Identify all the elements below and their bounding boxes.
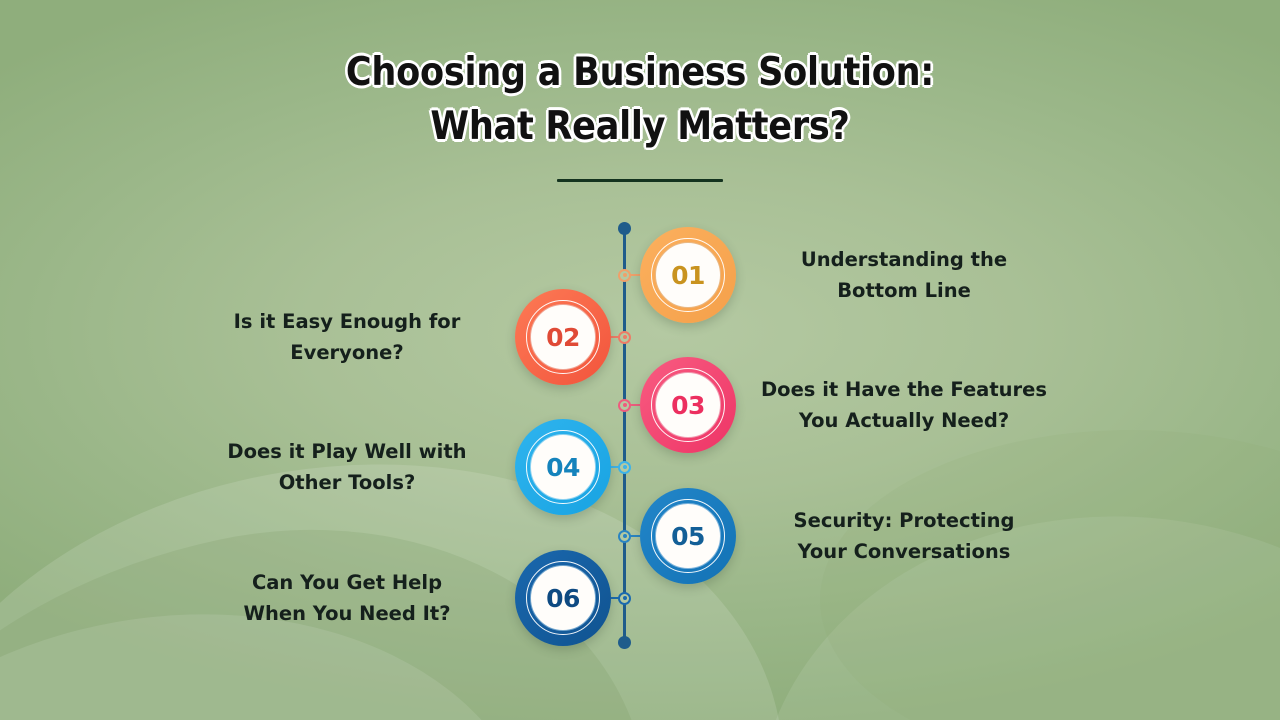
timeline-node-ring [651,368,725,442]
timeline-node-01[interactable]: 01 [640,227,736,323]
timeline-axis-marker [618,530,631,543]
timeline-axis-marker [618,592,631,605]
timeline-node-label: Does it Play Well with Other Tools? [187,436,507,498]
timeline-axis-marker [618,461,631,474]
timeline-axis-marker-core [623,335,627,339]
timeline-axis-marker [618,399,631,412]
page-title: Choosing a Business Solution: What Reall… [325,46,955,154]
background-wave-4 [760,463,1280,720]
background-wave-5 [820,430,1280,720]
timeline-axis-marker-core [623,596,627,600]
timeline-node-ring [651,238,725,312]
timeline-node-label: Security: Protecting Your Conversations [744,505,1064,567]
timeline-axis-marker-core [623,273,627,277]
title-divider [557,179,723,182]
timeline-node-ring [526,300,600,374]
timeline-axis-line [623,228,626,643]
timeline-axis-cap-bottom [618,636,631,649]
timeline-node-02[interactable]: 02 [515,289,611,385]
timeline-node-label: Is it Easy Enough for Everyone? [187,306,507,368]
timeline-node-04[interactable]: 04 [515,419,611,515]
timeline-node-ring [526,430,600,504]
timeline-node-label: Does it Have the Features You Actually N… [744,374,1064,436]
timeline-axis-marker [618,269,631,282]
timeline-node-06[interactable]: 06 [515,550,611,646]
timeline-axis-marker-core [623,403,627,407]
timeline-node-ring [526,561,600,635]
timeline-axis-cap-top [618,222,631,235]
timeline-node-03[interactable]: 03 [640,357,736,453]
title-block: Choosing a Business Solution: What Reall… [0,46,1280,154]
timeline-node-ring [651,499,725,573]
timeline-axis-marker [618,331,631,344]
timeline-axis-marker-core [623,534,627,538]
timeline-axis-marker-core [623,465,627,469]
timeline-node-label: Understanding the Bottom Line [744,244,1064,306]
timeline-node-05[interactable]: 05 [640,488,736,584]
timeline-node-label: Can You Get Help When You Need It? [187,567,507,629]
infographic-canvas: Choosing a Business Solution: What Reall… [0,0,1280,720]
